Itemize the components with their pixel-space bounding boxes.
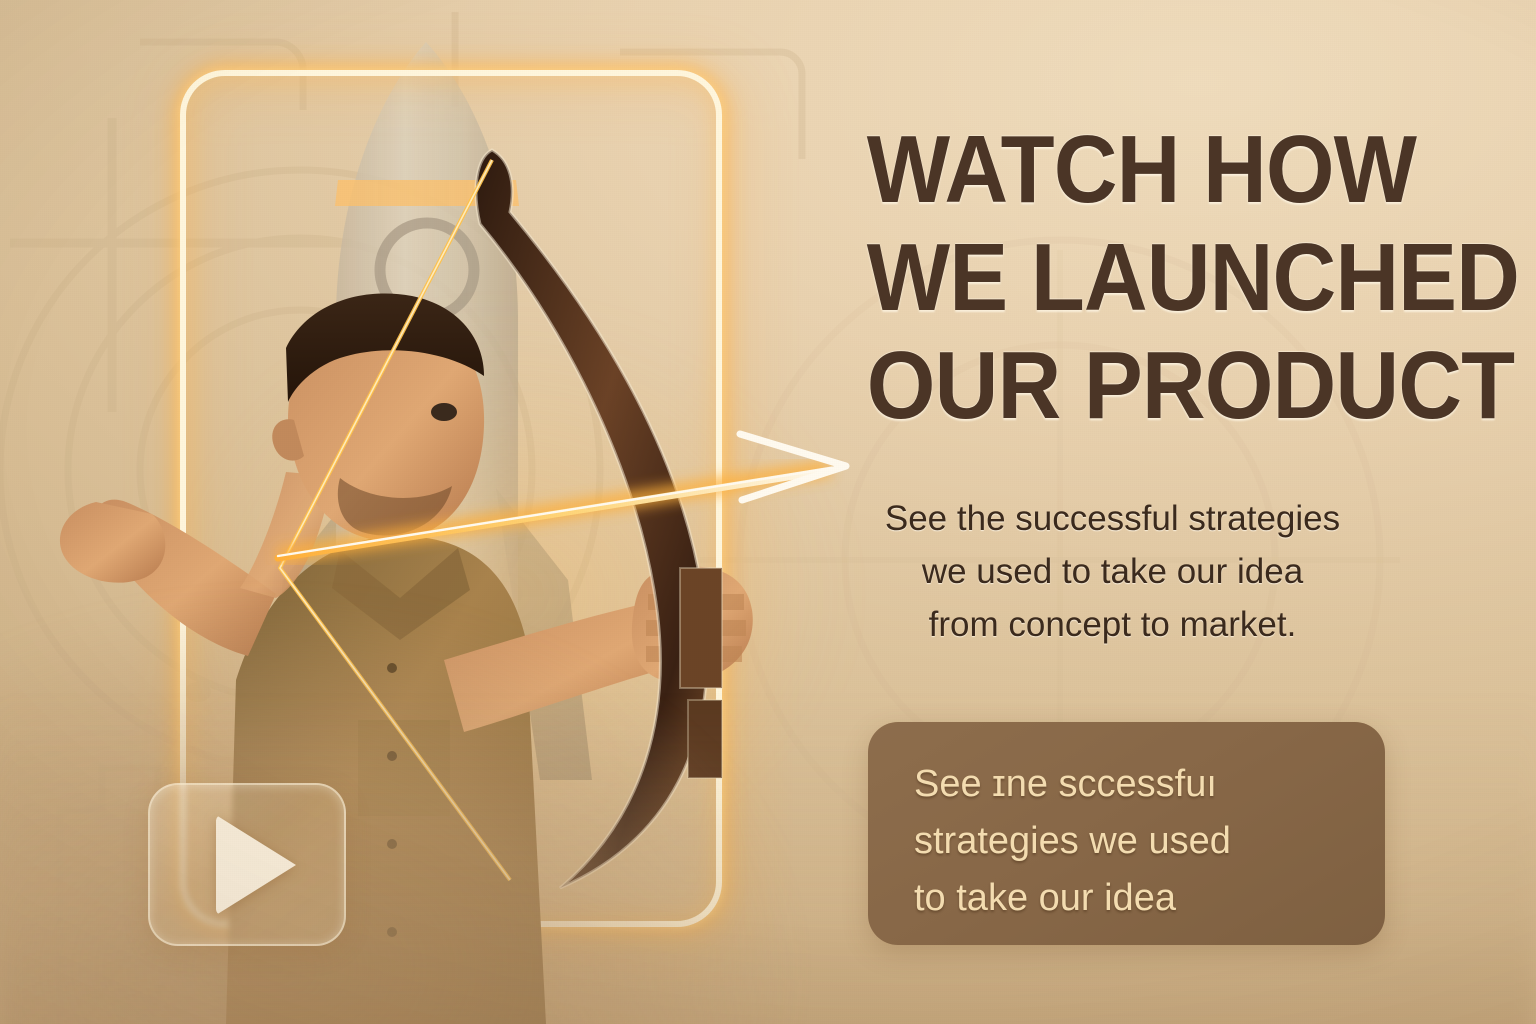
- poster-canvas: WATCH HOW WE LAUNCHED OUR PRODUCT See th…: [0, 0, 1536, 1024]
- cta-line-2: strategies we used: [914, 813, 1354, 870]
- subheadline-line-2: we used to take our idea: [820, 545, 1405, 598]
- headline-line-3: OUR PRODUCT: [867, 332, 1405, 440]
- cta-card-text: See ɪne sccessfuı strategies we used to …: [914, 756, 1354, 927]
- cta-line-3: to take our idea: [914, 870, 1354, 927]
- cta-card[interactable]: See ɪne sccessfuı strategies we used to …: [868, 722, 1385, 945]
- headline-line-1: WATCH HOW: [867, 116, 1405, 224]
- subheadline: See the successful strategies we used to…: [820, 492, 1405, 651]
- page-title: WATCH HOW WE LAUNCHED OUR PRODUCT: [867, 116, 1405, 440]
- cta-line-1: See ɪne sccessfuı: [914, 756, 1354, 813]
- subheadline-line-3: from concept to market.: [820, 598, 1405, 651]
- headline-line-2: WE LAUNCHED: [867, 224, 1405, 332]
- text-column: WATCH HOW WE LAUNCHED OUR PRODUCT See th…: [820, 0, 1420, 1024]
- subheadline-line-1: See the successful strategies: [820, 492, 1405, 545]
